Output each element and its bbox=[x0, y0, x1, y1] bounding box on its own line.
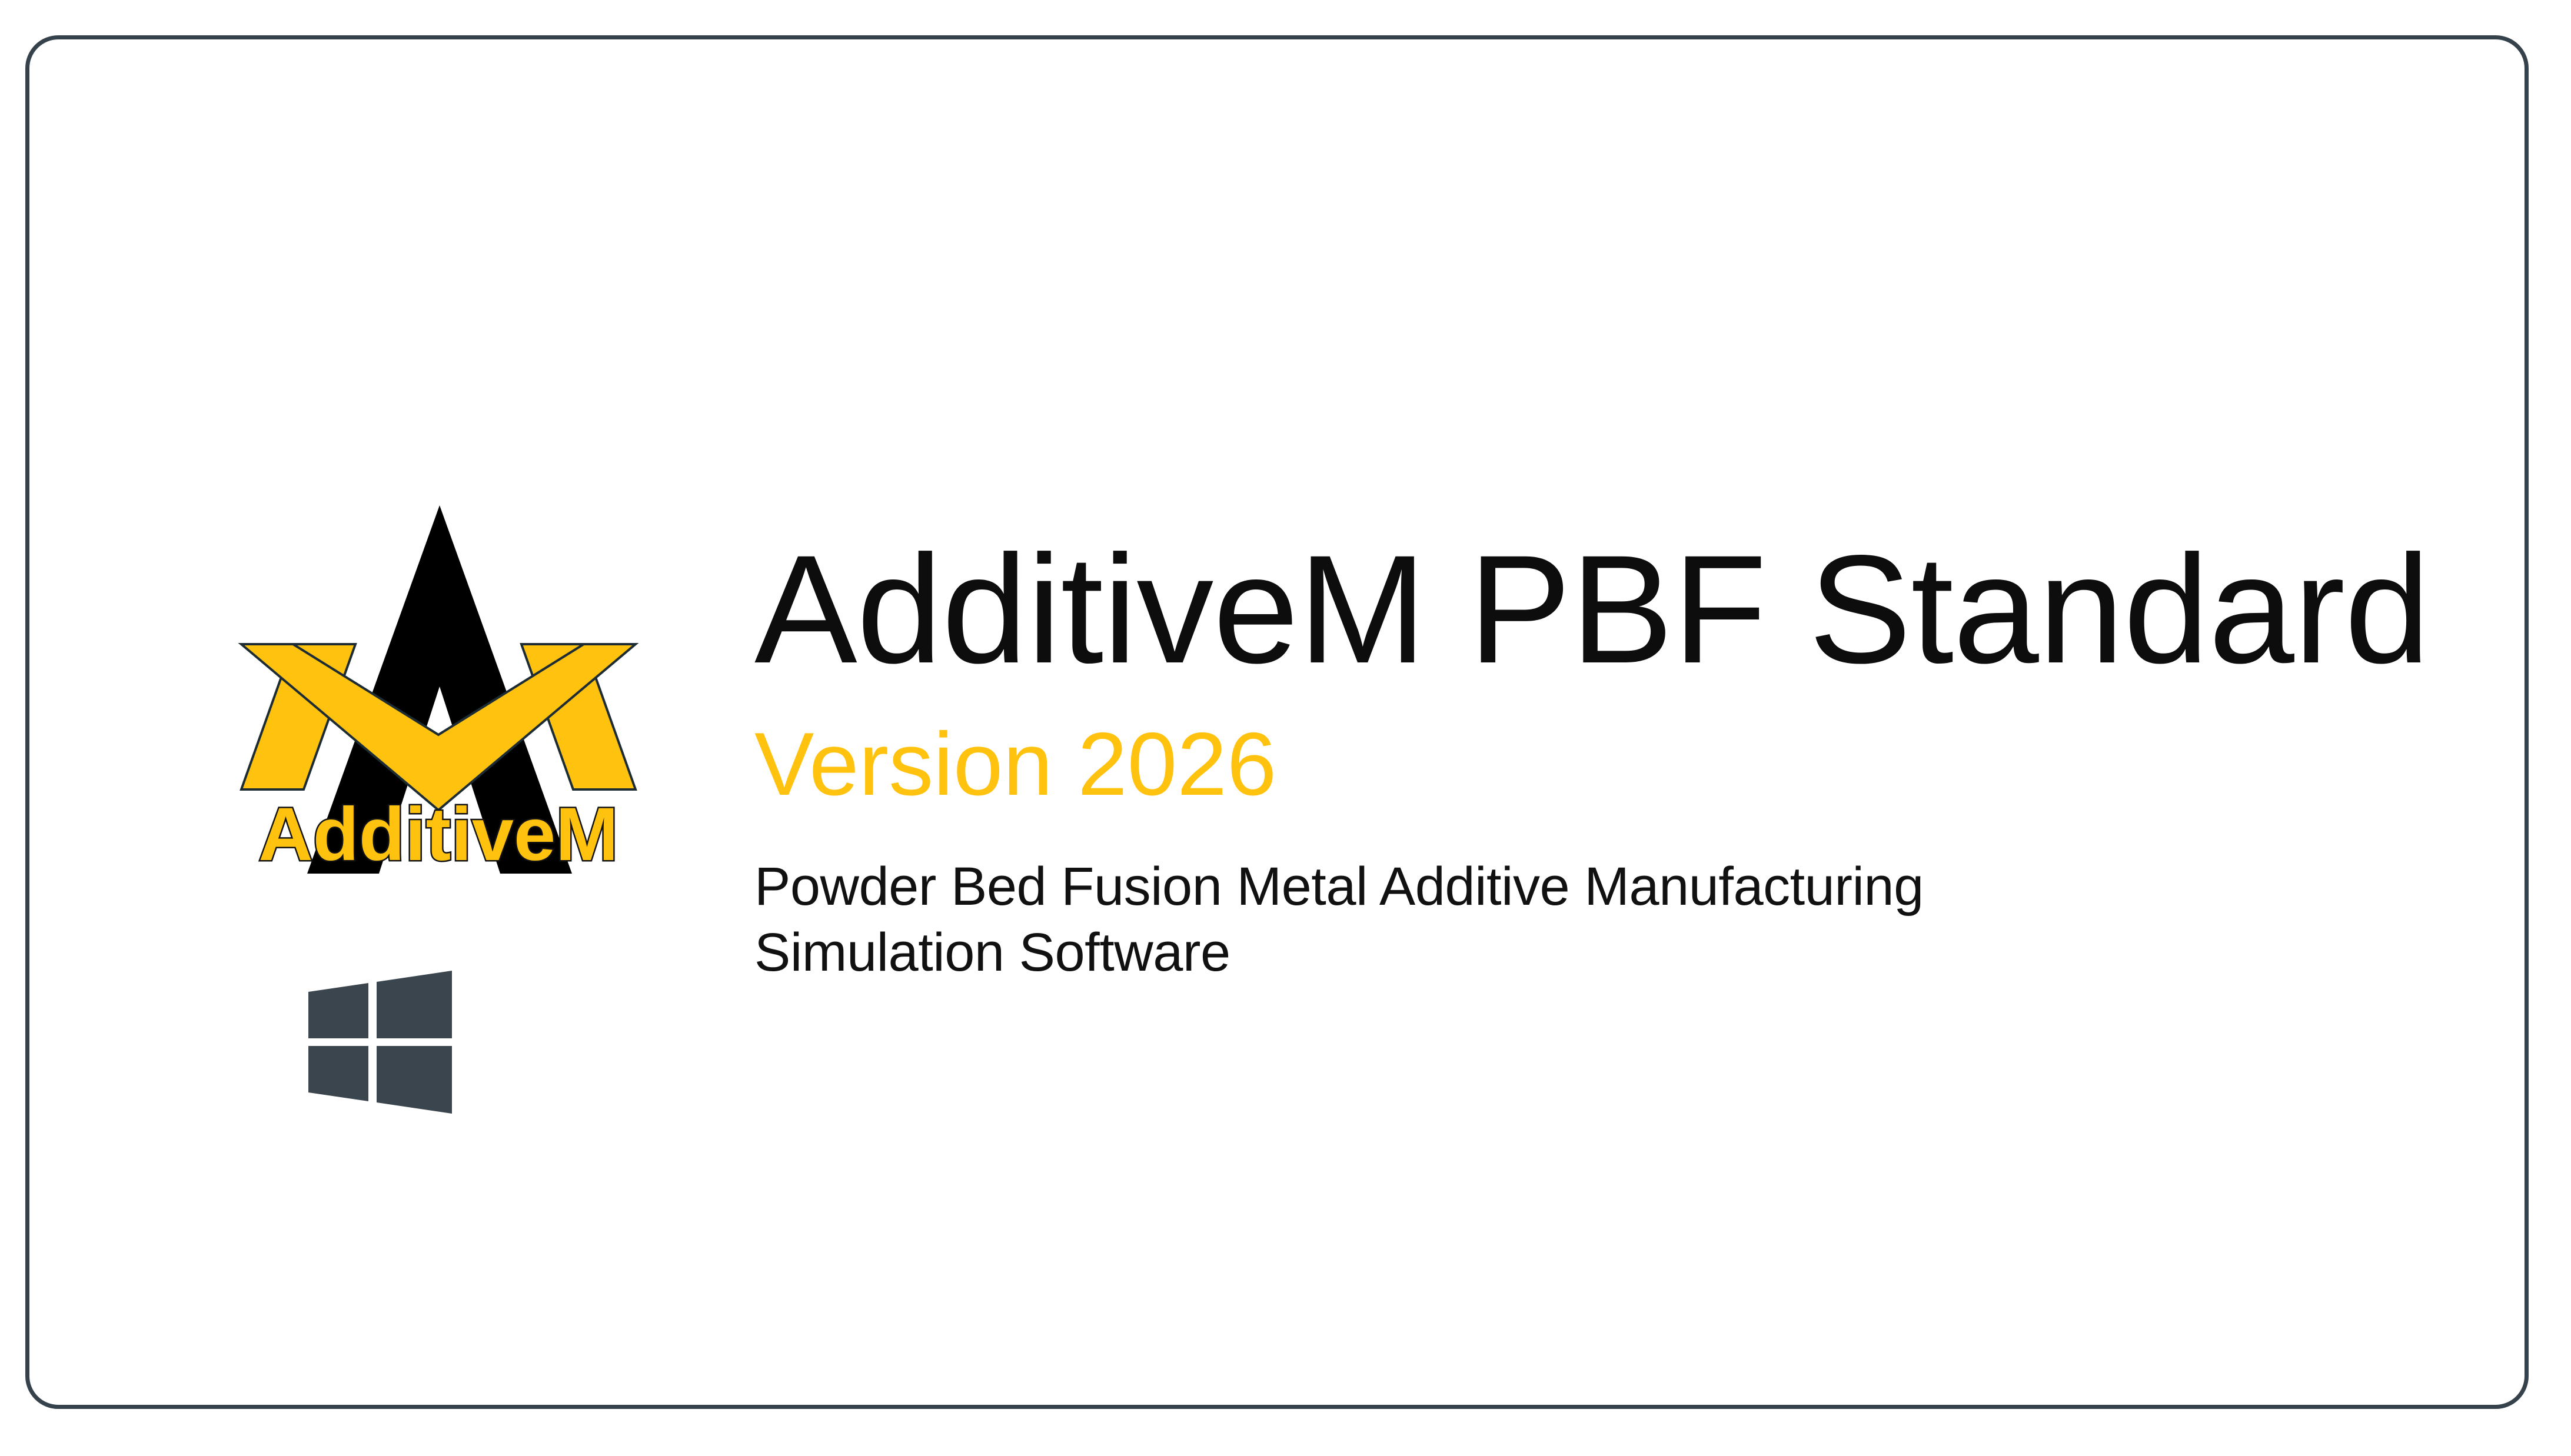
windows-pane-top-right bbox=[377, 971, 452, 1038]
splash-window: AdditiveM AdditiveM PBF Standard Version… bbox=[25, 35, 2529, 1409]
windows-pane-bottom-left bbox=[308, 1046, 368, 1101]
additivem-logo: AdditiveM bbox=[224, 492, 653, 881]
windows-pane-top-left bbox=[308, 983, 368, 1038]
product-info-block: AdditiveM PBF Standard Version 2026 Powd… bbox=[754, 532, 2520, 985]
logo-wordmark: AdditiveM bbox=[258, 792, 618, 877]
windows-icon bbox=[307, 968, 453, 1116]
windows-pane-bottom-right bbox=[377, 1046, 452, 1114]
product-tagline-line-1: Powder Bed Fusion Metal Additive Manufac… bbox=[754, 854, 2261, 919]
product-tagline: Powder Bed Fusion Metal Additive Manufac… bbox=[754, 809, 2261, 985]
product-tagline-line-2: Simulation Software bbox=[754, 919, 2261, 985]
page-title: AdditiveM PBF Standard bbox=[754, 532, 2520, 687]
version-label: Version 2026 bbox=[754, 687, 2520, 809]
